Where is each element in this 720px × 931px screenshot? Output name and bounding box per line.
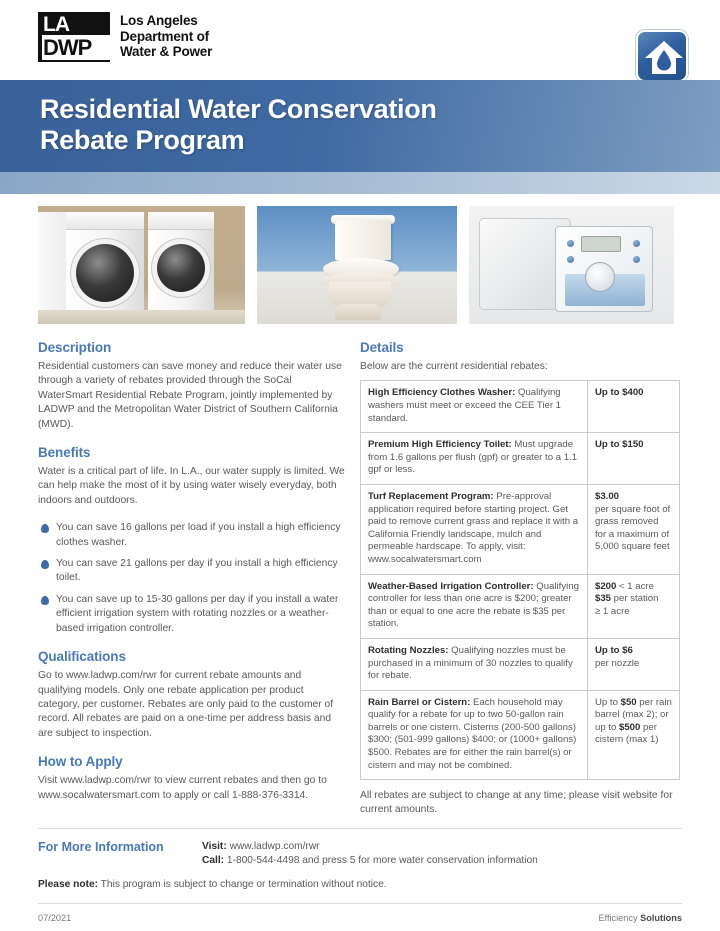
rebate-amount: Up to $400 — [595, 387, 644, 398]
brand-light-text: Efficiency — [598, 913, 640, 923]
rebate-description-cell: Turf Replacement Program: Pre-approval a… — [361, 484, 588, 574]
logo-la-text: LA — [43, 13, 69, 36]
rebate-amount: $3.00 — [595, 491, 619, 502]
visit-value[interactable]: www.ladwp.com/rwr — [227, 841, 320, 852]
call-value: 1-800-544-4498 and press 5 for more wate… — [224, 855, 538, 866]
rebate-amount-secondary: $500 — [619, 722, 640, 733]
rebate-amount-note: < 1 acre — [616, 581, 654, 592]
agency-line-1: Los Angeles — [120, 13, 212, 29]
rebate-name: Rotating Nozzles: — [368, 645, 448, 656]
logo-dwp-text: DWP — [42, 35, 110, 60]
rebate-amount-cell: $200 < 1 acre $35 per station ≥ 1 acre — [588, 574, 680, 638]
ladwp-logo: LA DWP Los Angeles Department of Water &… — [38, 12, 212, 62]
list-item-label: You can save up to 15-30 gallons per day… — [56, 594, 338, 634]
photo-strip — [0, 194, 720, 324]
list-item-label: You can save 21 gallons per day if you i… — [56, 558, 338, 583]
rebate-flyer-page: LA DWP Los Angeles Department of Water &… — [0, 0, 720, 931]
benefits-list: You can save 16 gallons per load if you … — [38, 521, 346, 636]
table-row: High Efficiency Clothes Washer: Qualifyi… — [361, 381, 680, 433]
rebate-name: Weather-Based Irrigation Controller: — [368, 581, 534, 592]
more-information-label: For More Information — [38, 840, 188, 869]
high-efficiency-clothes-washers-photo — [38, 206, 245, 324]
rebate-amount: $200 — [595, 581, 616, 592]
efficiency-solutions-brand: Efficiency Solutions — [598, 913, 682, 923]
water-drop-bullet-icon — [41, 596, 49, 605]
rebate-desc: Pre-approval application required before… — [368, 491, 578, 565]
table-row: Turf Replacement Program: Pre-approval a… — [361, 484, 680, 574]
rebate-amount-prefix: Up to — [595, 697, 621, 708]
rebate-amount-note: per nozzle — [595, 658, 672, 671]
how-to-apply-heading: How to Apply — [38, 754, 346, 769]
list-item: You can save up to 15-30 gallons per day… — [38, 593, 346, 636]
benefits-body: Water is a critical part of life. In L.A… — [38, 465, 346, 508]
footer-line: 07/2021 Efficiency Solutions — [0, 904, 720, 923]
rebate-name: Rain Barrel or Cistern: — [368, 697, 470, 708]
title-banner: Residential Water Conservation Rebate Pr… — [0, 80, 720, 172]
revision-date: 07/2021 — [38, 913, 71, 923]
please-note-label: Please note: — [38, 879, 98, 890]
banner-underbar — [0, 172, 720, 194]
rebate-amount-cell: Up to $400 — [588, 381, 680, 433]
rebate-amount: Up to $150 — [595, 439, 644, 450]
page-title-line-1: Residential Water Conservation — [40, 94, 437, 125]
rebate-amount: $50 — [621, 697, 637, 708]
rebate-description-cell: Rain Barrel or Cistern: Each household m… — [361, 690, 588, 780]
page-title: Residential Water Conservation Rebate Pr… — [40, 94, 437, 156]
more-information-section: For More Information Visit: www.ladwp.co… — [0, 829, 720, 869]
agency-line-2: Department of — [120, 29, 212, 45]
table-row: Premium High Efficiency Toilet: Must upg… — [361, 433, 680, 485]
visit-label: Visit: — [202, 841, 227, 852]
list-item: You can save 16 gallons per load if you … — [38, 521, 346, 550]
rebate-amount-cell: Up to $150 — [588, 433, 680, 485]
weather-based-irrigation-controller-photo — [469, 206, 674, 324]
rebate-description-cell: Weather-Based Irrigation Controller: Qua… — [361, 574, 588, 638]
rebate-amount-note-tertiary: ≥ 1 acre — [595, 606, 630, 617]
details-heading: Details — [360, 340, 680, 355]
visit-line: Visit: www.ladwp.com/rwr — [202, 840, 538, 855]
rebate-amount-cell: Up to $50 per rain barrel (max 2); or up… — [588, 690, 680, 780]
ladwp-logo-mark: LA DWP — [38, 12, 110, 62]
description-body: Residential customers can save money and… — [38, 360, 346, 432]
left-column: Description Residential customers can sa… — [38, 340, 346, 818]
rebate-amount: Up to $6 — [595, 645, 633, 656]
qualifications-body: Go to www.ladwp.com/rwr for current reba… — [38, 669, 346, 741]
rebate-amount-note-secondary: per station — [611, 593, 658, 604]
content-columns: Description Residential customers can sa… — [0, 324, 720, 818]
how-to-apply-body: Visit www.ladwp.com/rwr to view current … — [38, 774, 346, 803]
right-column: Details Below are the current residentia… — [360, 340, 680, 818]
agency-name: Los Angeles Department of Water & Power — [120, 12, 212, 60]
list-item: You can save 21 gallons per day if you i… — [38, 557, 346, 586]
premium-high-efficiency-toilet-photo — [257, 206, 457, 324]
rebate-description-cell: Premium High Efficiency Toilet: Must upg… — [361, 433, 588, 485]
more-information-lines: Visit: www.ladwp.com/rwr Call: 1-800-544… — [202, 840, 538, 869]
water-drop-bullet-icon — [41, 524, 49, 533]
rebate-name: Turf Replacement Program: — [368, 491, 494, 502]
description-heading: Description — [38, 340, 346, 355]
water-drop-bullet-icon — [41, 560, 49, 569]
rebates-table: High Efficiency Clothes Washer: Qualifyi… — [360, 380, 680, 780]
qualifications-heading: Qualifications — [38, 649, 346, 664]
house-water-drop-icon — [636, 30, 688, 82]
call-line: Call: 1-800-544-4498 and press 5 for mor… — [202, 854, 538, 869]
table-row: Rotating Nozzles: Qualifying nozzles mus… — [361, 638, 680, 690]
please-note-value: This program is subject to change or ter… — [98, 879, 387, 890]
rebate-amount-secondary: $35 — [595, 593, 611, 604]
page-title-line-2: Rebate Program — [40, 125, 437, 156]
rebate-description-cell: High Efficiency Clothes Washer: Qualifyi… — [361, 381, 588, 433]
masthead: LA DWP Los Angeles Department of Water &… — [0, 0, 720, 78]
rebate-description-cell: Rotating Nozzles: Qualifying nozzles mus… — [361, 638, 588, 690]
rebate-name: Premium High Efficiency Toilet: — [368, 439, 512, 450]
table-row: Weather-Based Irrigation Controller: Qua… — [361, 574, 680, 638]
details-intro: Below are the current residential rebate… — [360, 360, 680, 374]
rebate-amount-cell: Up to $6 per nozzle — [588, 638, 680, 690]
list-item-label: You can save 16 gallons per load if you … — [56, 522, 341, 547]
please-note-line: Please note: This program is subject to … — [0, 869, 720, 890]
brand-bold-text: Solutions — [640, 913, 682, 923]
benefits-heading: Benefits — [38, 445, 346, 460]
rebates-disclaimer: All rebates are subject to change at any… — [360, 789, 680, 817]
rebate-amount-note: per square foot of grass removed for a m… — [595, 504, 672, 554]
table-row: Rain Barrel or Cistern: Each household m… — [361, 690, 680, 780]
rebate-name: High Efficiency Clothes Washer: — [368, 387, 515, 398]
agency-line-3: Water & Power — [120, 44, 212, 60]
call-label: Call: — [202, 855, 224, 866]
rebate-amount-cell: $3.00 per square foot of grass removed f… — [588, 484, 680, 574]
